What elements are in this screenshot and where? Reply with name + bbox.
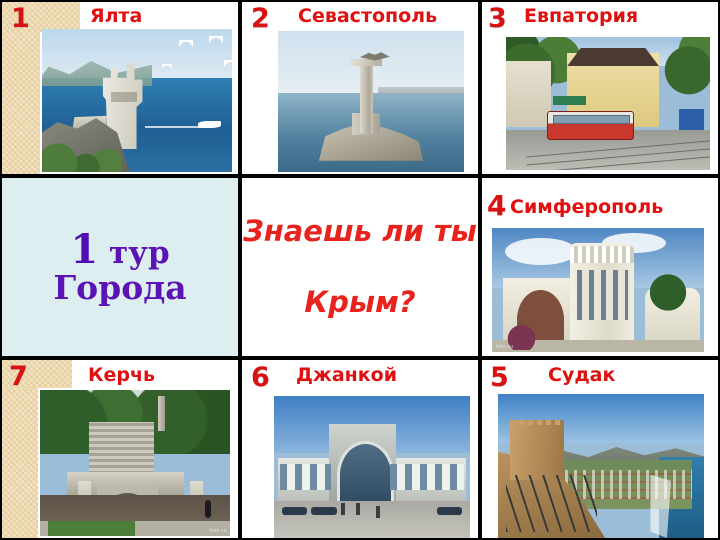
cell-evpatoria[interactable]: 3 Евпатория [482,2,718,174]
genoese-tower [510,420,564,480]
foliage [42,141,122,172]
slide-board: 1 Ялта 2 Севастополь [0,0,720,540]
cell-number-2: 2 [251,5,269,32]
tour-line-1: 1 тур [70,229,169,271]
photo-dzhankoy-station [274,396,470,538]
question-panel: Знаешь ли ты Крым? [242,178,478,356]
red-tram [547,111,635,140]
cell-number-4: 4 [487,192,505,220]
question-line-1: Знаешь ли ты [243,214,477,249]
pedestrian [205,500,211,518]
cell-number-1: 1 [11,5,29,32]
cell-number-5: 5 [490,364,508,391]
watermark: foto.ru [209,528,227,534]
station-arched-window [337,441,394,509]
cell-simferopol[interactable]: 4 Симферополь foto.ru [482,178,718,356]
cell-title-simferopol: Симферополь [510,198,663,217]
cell-title-yalta: Ялта [90,7,142,26]
monument-capital [351,59,383,66]
question-line-2: Крым? [243,285,477,320]
cell-question[interactable]: Знаешь ли ты Крым? [242,178,478,356]
seagull-icon [224,60,232,67]
seagull-icon [209,36,223,43]
photo-simferopol-station: foto.ru [492,228,704,352]
left-windows [280,464,331,490]
far-shoreline [378,87,464,94]
photo-mithridates-staircase: foto.ru [40,390,230,536]
cell-number-7: 7 [9,363,27,390]
pedestrian [341,503,345,515]
photo-swallows-nest [42,29,232,172]
cell-kerch[interactable]: 7 Керчь foto.ru [2,360,238,538]
cell-title-sudak: Судак [548,366,615,385]
photo-sunken-ships-monument [278,31,464,172]
cell-tour-title[interactable]: 1 тур Города [2,178,238,356]
tower-windows [577,270,628,320]
cell-title-kerch: Керчь [88,366,155,385]
cell-title-evpatoria: Евпатория [524,7,638,26]
parked-car [311,507,336,516]
watermark: foto.ru [496,344,514,350]
tour-word: тур [109,235,170,271]
cell-number-3: 3 [488,5,506,32]
photo-evpatoria-tram [506,37,710,170]
pedestrian [356,503,360,515]
obelisk [158,396,166,431]
cloud [505,238,577,265]
cell-title-dzhankoy: Джанкой [296,366,397,385]
cell-sudak[interactable]: 5 Судак [482,360,718,538]
parked-car [437,507,462,516]
monument-column [360,65,373,133]
tower-colonnade [570,243,634,263]
right-windows [390,464,464,490]
parked-car [282,507,307,516]
tour-line-2: Города [53,271,186,306]
boat-wake [145,126,202,128]
tour-number: 1 [70,226,98,273]
lawn [48,521,135,536]
pedestrian [376,506,380,518]
seagull-icon [162,64,172,69]
shop-sign [553,96,586,105]
cell-yalta[interactable]: 1 Ялта [2,2,238,174]
tour-panel: 1 тур Города [2,178,238,356]
tree [645,263,692,323]
railing-fence [506,475,597,533]
side-building [506,61,551,128]
earth-slope [40,495,230,521]
cell-sevastopol[interactable]: 2 Севастополь [242,2,478,174]
question-text: Знаешь ли ты Крым? [243,214,477,320]
trees-right [657,37,710,111]
cell-number-6: 6 [251,364,269,391]
photo-sudak-fortress [498,394,704,538]
cell-dzhankoy[interactable]: 6 Джанкой [242,360,478,538]
cell-title-sevastopol: Севастополь [298,7,437,26]
seagull-icon [179,40,193,47]
